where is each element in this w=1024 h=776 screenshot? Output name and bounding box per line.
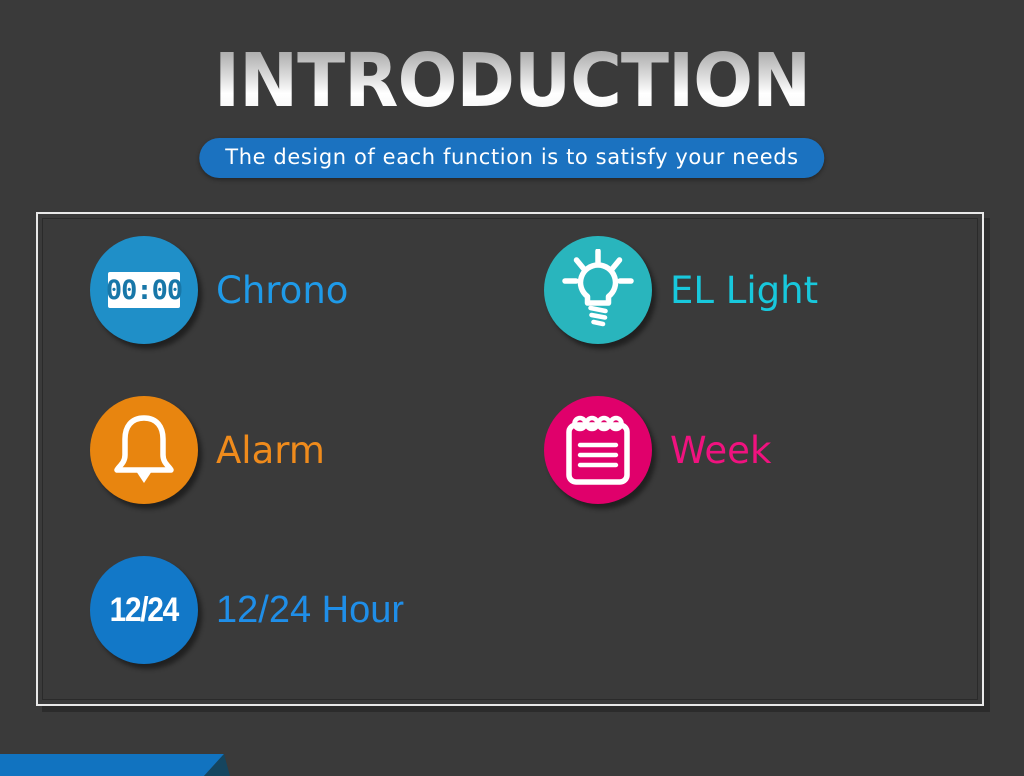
feature-label-alarm: Alarm — [216, 429, 325, 472]
feature-grid: 00:00 Chrono — [38, 214, 982, 704]
el-light-badge[interactable] — [544, 236, 652, 344]
feature-label-12-24-hour: 12/24 Hour — [216, 589, 404, 632]
twelve-twentyfour-badge[interactable]: 12/24 — [90, 556, 198, 664]
bell-icon — [109, 413, 179, 487]
feature-label-week: Week — [670, 429, 771, 472]
digital-clock-value: 00:00 — [106, 276, 182, 305]
subtitle-pill: The design of each function is to satisf… — [199, 138, 824, 178]
feature-frame: 00:00 Chrono — [36, 212, 984, 706]
notepad-calendar-icon — [561, 412, 635, 488]
page-header: INTRODUCTION The design of each function… — [0, 0, 1024, 190]
feature-item-week[interactable]: Week — [544, 396, 771, 504]
week-badge[interactable] — [544, 396, 652, 504]
subtitle-text: The design of each function is to satisf… — [225, 145, 798, 169]
page-title: INTRODUCTION — [0, 42, 1024, 120]
feature-item-el-light[interactable]: EL Light — [544, 236, 818, 344]
digital-clock-icon: 00:00 — [108, 272, 180, 308]
light-bulb-icon — [561, 249, 635, 331]
chrono-badge[interactable]: 00:00 — [90, 236, 198, 344]
feature-item-chrono[interactable]: 00:00 Chrono — [90, 236, 348, 344]
alarm-badge[interactable] — [90, 396, 198, 504]
feature-item-12-24-hour[interactable]: 12/24 12/24 Hour — [90, 556, 404, 664]
feature-label-el-light: EL Light — [670, 269, 818, 312]
twelve-twentyfour-text-icon: 12/24 — [110, 593, 178, 627]
bottom-ribbon — [0, 754, 232, 776]
feature-item-alarm[interactable]: Alarm — [90, 396, 325, 504]
feature-label-chrono: Chrono — [216, 269, 348, 312]
